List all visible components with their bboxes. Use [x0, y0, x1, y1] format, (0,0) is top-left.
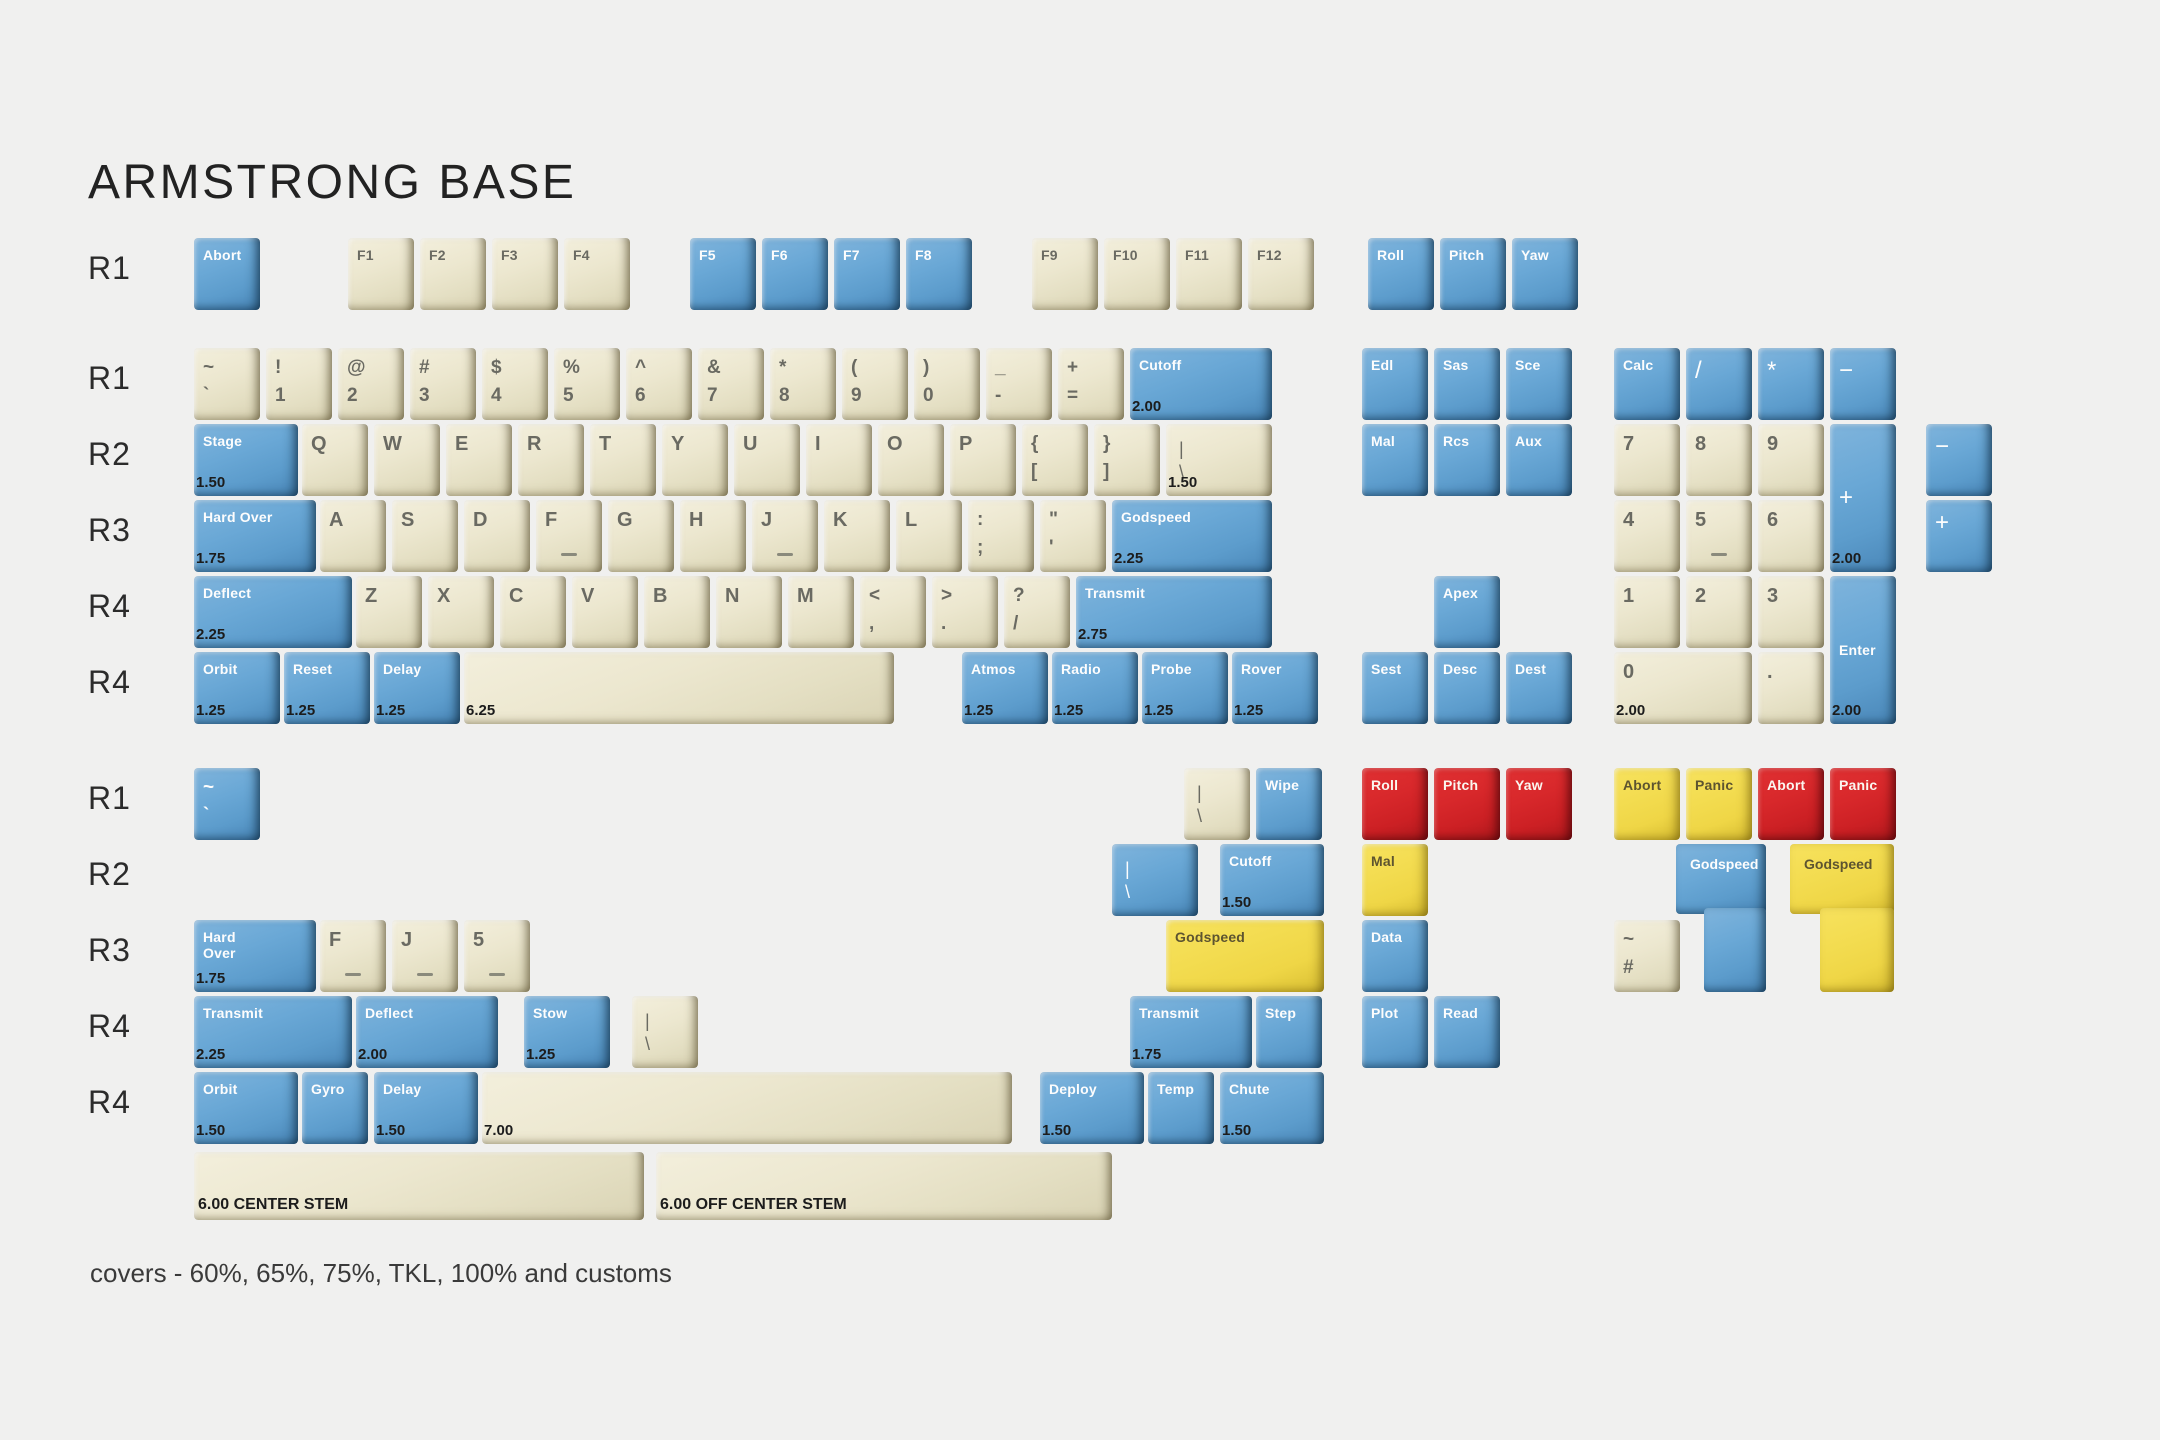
keycap-surface [464, 500, 530, 572]
keycap-surface [392, 920, 458, 992]
keycap-surface [1686, 424, 1752, 496]
keycap-pitch[interactable]: Pitch [1434, 768, 1500, 840]
keycap-size-label: 2.25 [196, 626, 225, 643]
keycap-z[interactable]: Z [356, 576, 422, 648]
keycap-blank[interactable] [482, 1072, 1012, 1144]
keycap-surface [1434, 348, 1500, 420]
keycap-surface [1758, 424, 1824, 496]
keycap-surface [1362, 768, 1428, 840]
keycap-size-label: 2.00 [1832, 550, 1861, 567]
keycap-surface [1686, 500, 1752, 572]
keycap-surface [564, 238, 630, 310]
keycap-blank[interactable] [464, 652, 894, 724]
keycap-4[interactable]: 4 [1614, 500, 1680, 572]
homing-bar [561, 553, 577, 556]
keycap-plot[interactable]: Plot [1362, 996, 1428, 1068]
keycap-t[interactable]: T [590, 424, 656, 496]
keycap-surface [428, 576, 494, 648]
keycap-surface [1758, 768, 1824, 840]
keycap-blank[interactable]: }] [1094, 424, 1160, 496]
keycap-d[interactable]: D [464, 500, 530, 572]
keycap-surface [906, 238, 972, 310]
keycap-9[interactable]: 9 [1758, 424, 1824, 496]
keycap-surface-upper [1790, 844, 1894, 914]
keycap-surface [1506, 424, 1572, 496]
keycap-surface [608, 500, 674, 572]
row-label: R1 [88, 780, 131, 817]
keycap-h[interactable]: H [680, 500, 746, 572]
keycap-blank[interactable]: {[ [1022, 424, 1088, 496]
keycap-f8[interactable]: F8 [906, 238, 972, 310]
keycap-legend-base: , [869, 614, 917, 635]
homing-bar [345, 973, 361, 976]
keycap-roll[interactable]: Roll [1362, 768, 1428, 840]
keycap-legend-base: 9 [851, 386, 899, 407]
keycap-legend-shifted: : [977, 510, 1025, 531]
keycap-abort[interactable]: Abort [1758, 768, 1824, 840]
keycap-abort[interactable]: Abort [194, 238, 260, 310]
keycap-surface [1440, 238, 1506, 310]
keycap-legend-shifted: > [941, 586, 989, 607]
keycap-legend-shifted: ? [1013, 586, 1061, 607]
keycap-surface [1256, 996, 1322, 1068]
keycap-dest[interactable]: Dest [1506, 652, 1572, 724]
keycap-surface [500, 576, 566, 648]
keycap-blank[interactable]: ?/ [1004, 576, 1070, 648]
keycap-roll[interactable]: Roll [1368, 238, 1434, 310]
keycap-g[interactable]: G [608, 500, 674, 572]
backslash-glyph: |\ [1197, 782, 1202, 827]
keycap-surface [1614, 768, 1680, 840]
keycap-size-label: 1.75 [196, 550, 225, 567]
keycap-7[interactable]: 7 [1614, 424, 1680, 496]
keycap-blank[interactable]: / [1686, 348, 1752, 420]
keycap-legend-shifted: & [707, 358, 755, 379]
keycap-size-label: 1.25 [1144, 702, 1173, 719]
keycap-surface [320, 920, 386, 992]
keycap-f5[interactable]: F5 [690, 238, 756, 310]
homing-bar [1711, 553, 1727, 556]
keycap-sas[interactable]: Sas [1434, 348, 1500, 420]
keycap-legend-shifted: ~ [1623, 930, 1671, 951]
keycap-legend-shifted: ( [851, 358, 899, 379]
keycap-surface [950, 424, 1016, 496]
keycap-legend-base: 6 [635, 386, 683, 407]
keycap-blank[interactable]: − [1830, 348, 1896, 420]
keycap-r[interactable]: R [518, 424, 584, 496]
keycap-5[interactable]: %5 [554, 348, 620, 420]
keycap-surface [464, 920, 530, 992]
keycap-2[interactable]: 2 [1686, 576, 1752, 648]
keycap-surface [1512, 238, 1578, 310]
keycap-1[interactable]: 1 [1614, 576, 1680, 648]
keycap-surface [1362, 348, 1428, 420]
keycap-surface [1614, 576, 1680, 648]
keycap-surface [1614, 348, 1680, 420]
spacebar-size-label: 6.00 OFF CENTER STEM [660, 1196, 847, 1214]
keycap-f9[interactable]: F9 [1032, 238, 1098, 310]
keycap-p[interactable]: P [950, 424, 1016, 496]
keycap-edl[interactable]: Edl [1362, 348, 1428, 420]
keycap-legend-shifted: * [779, 358, 827, 379]
keycap-u[interactable]: U [734, 424, 800, 496]
keycap-mal[interactable]: Mal [1362, 424, 1428, 496]
keycap-surface [1686, 576, 1752, 648]
keycap-surface [1686, 348, 1752, 420]
keycap-j[interactable]: J [752, 500, 818, 572]
keycap-legend-base: 4 [491, 386, 539, 407]
keycap-size-label: 1.25 [1054, 702, 1083, 719]
keycap-surface [1758, 576, 1824, 648]
keycap-surface [878, 424, 944, 496]
keycap-surface [1362, 652, 1428, 724]
keycap-apex[interactable]: Apex [1434, 576, 1500, 648]
keycap-iso-godspeed[interactable]: Godspeed [1676, 844, 1766, 992]
keycap-calc[interactable]: Calc [1614, 348, 1680, 420]
keycap-size-label: 1.75 [1132, 1046, 1161, 1063]
keycap-q[interactable]: Q [302, 424, 368, 496]
keycap-legend-shifted: % [563, 358, 611, 379]
keycap-size-label: 1.50 [196, 1122, 225, 1139]
keycap-panic[interactable]: Panic [1830, 768, 1896, 840]
keycap-surface [762, 238, 828, 310]
keycap-legend-shifted: @ [347, 358, 395, 379]
keycap-legend-shifted: # [419, 358, 467, 379]
spacebar-size-label: 6.00 CENTER STEM [198, 1196, 348, 1214]
keycap-y[interactable]: Y [662, 424, 728, 496]
keycap-aux[interactable]: Aux [1506, 424, 1572, 496]
keycap-size-label: 1.50 [1168, 474, 1197, 491]
keycap-size-label: 7.00 [484, 1122, 513, 1139]
keycap-size-label: 2.00 [1832, 702, 1861, 719]
keycap-surface [1362, 844, 1428, 916]
keycap-surface [1248, 238, 1314, 310]
keycap-j[interactable]: J [392, 920, 458, 992]
keycap-surface [320, 500, 386, 572]
keycap-surface [1176, 238, 1242, 310]
keycap-f2[interactable]: F2 [420, 238, 486, 310]
keycap-legend-base: 1 [275, 386, 323, 407]
keycap-5[interactable]: 5 [464, 920, 530, 992]
keycap-surface [356, 576, 422, 648]
keycap-c[interactable]: C [500, 576, 566, 648]
keycap-surface [1434, 424, 1500, 496]
keycap-surface [1506, 652, 1572, 724]
keycap-blank[interactable]: − [1926, 424, 1992, 496]
homing-bar [417, 973, 433, 976]
page-title: ARMSTRONG BASE [88, 155, 576, 210]
keycap-desc[interactable]: Desc [1434, 652, 1500, 724]
backslash-glyph: |\ [645, 1010, 650, 1055]
keycap-surface [302, 1072, 368, 1144]
keycap-size-label: 1.50 [376, 1122, 405, 1139]
row-label: R3 [88, 512, 131, 549]
keycap-surface [482, 1072, 1012, 1144]
homing-bar [777, 553, 793, 556]
keycap-n[interactable]: N [716, 576, 782, 648]
keycap-step[interactable]: Step [1256, 996, 1322, 1068]
row-label: R4 [88, 588, 131, 625]
keycap-surface [464, 652, 894, 724]
keycap-legend-shifted: ! [275, 358, 323, 379]
keycap-legend: Godspeed [1804, 856, 1872, 872]
keycap-surface [1758, 652, 1824, 724]
keycap-panic[interactable]: Panic [1686, 768, 1752, 840]
keycap-surface [788, 576, 854, 648]
keycap-surface [734, 424, 800, 496]
keycap-legend-base: # [1623, 958, 1671, 979]
keycap-iso-godspeed[interactable]: Godspeed [1790, 844, 1894, 992]
keycap-rcs[interactable]: Rcs [1434, 424, 1500, 496]
keycap-blank[interactable]: "' [1040, 500, 1106, 572]
keycap-yaw[interactable]: Yaw [1512, 238, 1578, 310]
keycap-surface [632, 996, 698, 1068]
keycap-size-label: 1.25 [1234, 702, 1263, 719]
keycap-surface [1148, 1072, 1214, 1144]
keycap-surface [716, 576, 782, 648]
keycap-size-label: 1.25 [526, 1046, 555, 1063]
keycap-f[interactable]: F [320, 920, 386, 992]
keycap-surface [536, 500, 602, 572]
backslash-glyph: |\ [1125, 858, 1130, 903]
row-label: R4 [88, 664, 131, 701]
keycap-6[interactable]: 6 [1758, 500, 1824, 572]
footer-note: covers - 60%, 65%, 75%, TKL, 100% and cu… [90, 1258, 672, 1289]
keycap-blank[interactable]: += [1058, 348, 1124, 420]
keycap-legend-shifted: < [869, 586, 917, 607]
keycap-legend-base: ` [203, 386, 251, 407]
keycap-surface-upper [1676, 844, 1766, 914]
keycap-sest[interactable]: Sest [1362, 652, 1428, 724]
keycap-surface [348, 238, 414, 310]
keycap-surface [690, 238, 756, 310]
keycap-surface [1104, 238, 1170, 310]
keycap-blank[interactable]: >. [932, 576, 998, 648]
keycap-legend-base: ; [977, 538, 1025, 559]
keycap-e[interactable]: E [446, 424, 512, 496]
keycap-size-label: 2.75 [1078, 626, 1107, 643]
keycap-blank[interactable]: * [1758, 348, 1824, 420]
keycap-yaw[interactable]: Yaw [1506, 768, 1572, 840]
homing-bar [489, 973, 505, 976]
keycap-surface [1434, 768, 1500, 840]
keycap-f3[interactable]: F3 [492, 238, 558, 310]
keycap-blank[interactable]: :; [968, 500, 1034, 572]
keycap-8[interactable]: 8 [1686, 424, 1752, 496]
keycap-surface [1758, 348, 1824, 420]
keycap-5[interactable]: 5 [1686, 500, 1752, 572]
keycap-f4[interactable]: F4 [564, 238, 630, 310]
keycap-wipe[interactable]: Wipe [1256, 768, 1322, 840]
keycap-size-label: 1.50 [1222, 1122, 1251, 1139]
keycap-f6[interactable]: F6 [762, 238, 828, 310]
keycap-3[interactable]: 3 [1758, 576, 1824, 648]
keycap-surface [1506, 768, 1572, 840]
keycap-surface [896, 500, 962, 572]
keycap-legend-base: / [1013, 614, 1061, 635]
keycap-legend-shifted: ~ [203, 358, 251, 379]
keycap-v[interactable]: V [572, 576, 638, 648]
keycap-read[interactable]: Read [1434, 996, 1500, 1068]
keycap-9[interactable]: (9 [842, 348, 908, 420]
keycap-surface [392, 500, 458, 572]
keycap-surface [492, 238, 558, 310]
keycap-abort[interactable]: Abort [1614, 768, 1680, 840]
keycap-surface [1362, 920, 1428, 992]
keycap-f12[interactable]: F12 [1248, 238, 1314, 310]
keycap-surface [374, 424, 440, 496]
keycap-blank[interactable]: ~` [194, 768, 260, 840]
row-label: R1 [88, 250, 131, 287]
keycap-legend-base: ' [1049, 538, 1097, 559]
keycap-legend-base: = [1067, 386, 1115, 407]
keycap-size-label: 1.50 [1222, 894, 1251, 911]
keycap-a[interactable]: A [320, 500, 386, 572]
keycap-legend-shifted: { [1031, 434, 1079, 455]
keycap-blank[interactable]: |\ [632, 996, 698, 1068]
keycap-surface [1256, 768, 1322, 840]
keycap-surface [752, 500, 818, 572]
keycap-size-label: 1.75 [196, 970, 225, 987]
keycap-x[interactable]: X [428, 576, 494, 648]
keycap-legend: Godspeed [1690, 856, 1758, 872]
keycap-k[interactable]: K [824, 500, 890, 572]
keycap-surface [572, 576, 638, 648]
keycap-w[interactable]: W [374, 424, 440, 496]
keycap-surface [680, 500, 746, 572]
keycap-surface [1362, 424, 1428, 496]
keycap-surface [446, 424, 512, 496]
keycap-6[interactable]: ^6 [626, 348, 692, 420]
keycap-surface [1926, 424, 1992, 496]
keycap-size-label: 6.25 [466, 702, 495, 719]
keycap-f1[interactable]: F1 [348, 238, 414, 310]
keycap-size-label: 1.25 [196, 702, 225, 719]
keycap-m[interactable]: M [788, 576, 854, 648]
keycap-surface-lower [1820, 908, 1894, 992]
keycap-surface [1434, 652, 1500, 724]
keycap-surface [1758, 500, 1824, 572]
keycap-legend-shifted: _ [995, 358, 1043, 379]
keycap-1[interactable]: !1 [266, 348, 332, 420]
keycap-surface [420, 238, 486, 310]
keycap-blank[interactable]: |\ [1112, 844, 1198, 916]
keycap-legend-base: 0 [923, 386, 971, 407]
keycap-size-label: 1.25 [376, 702, 405, 719]
keycap-o[interactable]: O [878, 424, 944, 496]
keycap-temp[interactable]: Temp [1148, 1072, 1214, 1144]
keycap-legend-base: . [941, 614, 989, 635]
row-label: R4 [88, 1084, 131, 1121]
keycap-legend-base: - [995, 386, 1043, 407]
keycap-legend-base: [ [1031, 462, 1079, 483]
keycap-surface [590, 424, 656, 496]
keycap-sce[interactable]: Sce [1506, 348, 1572, 420]
keycap-data[interactable]: Data [1362, 920, 1428, 992]
keycap-8[interactable]: *8 [770, 348, 836, 420]
keycap-legend-shifted: ) [923, 358, 971, 379]
keycap-surface [1926, 500, 1992, 572]
keycap-surface [1686, 768, 1752, 840]
keycap-surface [1434, 996, 1500, 1068]
keycap-surface [644, 576, 710, 648]
keycap-gyro[interactable]: Gyro [302, 1072, 368, 1144]
keycap-4[interactable]: $4 [482, 348, 548, 420]
keycap-blank[interactable]: ~# [1614, 920, 1680, 992]
keycap-legend-shifted: $ [491, 358, 539, 379]
keycap-blank[interactable]: . [1758, 652, 1824, 724]
keycap-surface [1614, 500, 1680, 572]
keycap-surface [662, 424, 728, 496]
keycap-surface [824, 500, 890, 572]
keycap-f7[interactable]: F7 [834, 238, 900, 310]
keycap-surface [1434, 576, 1500, 648]
keycap-s[interactable]: S [392, 500, 458, 572]
keycap-3[interactable]: #3 [410, 348, 476, 420]
keycap-i[interactable]: I [806, 424, 872, 496]
keycap-size-label: 1.50 [1042, 1122, 1071, 1139]
row-label: R2 [88, 436, 131, 473]
keycap-legend-shifted: " [1049, 510, 1097, 531]
keycap-l[interactable]: L [896, 500, 962, 572]
keycap-size-label: 2.00 [1616, 702, 1645, 719]
keycap-blank[interactable]: ~` [194, 348, 260, 420]
keycap-legend-base: 2 [347, 386, 395, 407]
keycap-pitch[interactable]: Pitch [1440, 238, 1506, 310]
keycap-legend-base: 5 [563, 386, 611, 407]
row-label: R3 [88, 932, 131, 969]
keycap-blank[interactable]: _- [986, 348, 1052, 420]
keycap-legend-base: 3 [419, 386, 467, 407]
keycap-blank[interactable]: <, [860, 576, 926, 648]
keycap-blank[interactable]: + [1926, 500, 1992, 572]
keycap-legend-base: ] [1103, 462, 1151, 483]
row-label: R4 [88, 1008, 131, 1045]
keycap-legend-shifted: } [1103, 434, 1151, 455]
keycap-legend-base: ` [203, 806, 251, 827]
row-label: R1 [88, 360, 131, 397]
keycap-surface [1184, 768, 1250, 840]
keycap-surface [1830, 348, 1896, 420]
keycap-surface [302, 424, 368, 496]
row-label: R2 [88, 856, 131, 893]
keycap-size-label: 1.50 [196, 474, 225, 491]
keycap-7[interactable]: &7 [698, 348, 764, 420]
keycap-f[interactable]: F [536, 500, 602, 572]
keycap-legend-shifted: ~ [203, 778, 251, 799]
keycap-blank[interactable]: |\ [1184, 768, 1250, 840]
keycap-surface-lower [1704, 908, 1766, 992]
keycap-size-label: 2.00 [1132, 398, 1161, 415]
keycap-size-label: 2.25 [1114, 550, 1143, 567]
keycap-surface [1506, 348, 1572, 420]
keycap-f10[interactable]: F10 [1104, 238, 1170, 310]
keycap-legend-base: 7 [707, 386, 755, 407]
keycap-size-label: 2.25 [196, 1046, 225, 1063]
keycap-godspeed[interactable]: Godspeed [1166, 920, 1324, 992]
keycap-2[interactable]: @2 [338, 348, 404, 420]
keycap-mal[interactable]: Mal [1362, 844, 1428, 916]
keycap-size-label: 1.25 [286, 702, 315, 719]
keycap-surface [806, 424, 872, 496]
keycap-b[interactable]: B [644, 576, 710, 648]
keycap-0[interactable]: )0 [914, 348, 980, 420]
keycap-surface [1032, 238, 1098, 310]
keycap-f11[interactable]: F11 [1176, 238, 1242, 310]
keycap-legend-shifted: + [1067, 358, 1115, 379]
keycap-size-label: 1.25 [964, 702, 993, 719]
keycap-surface [194, 238, 260, 310]
